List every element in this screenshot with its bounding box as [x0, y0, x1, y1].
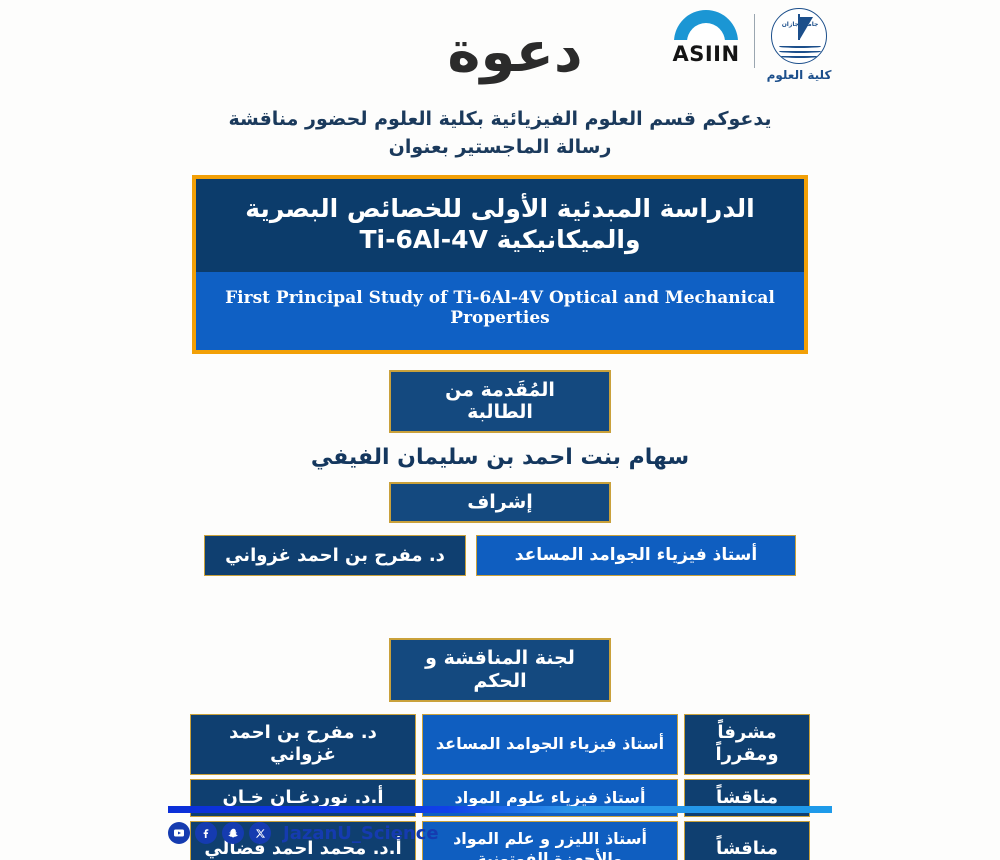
asiin-arch-icon — [674, 8, 738, 40]
jazan-university-logo: جامعة جازان كلية العلوم — [763, 8, 835, 82]
invitation-line-1: يدعوكم قسم العلوم الفيزيائية بكلية العلو… — [0, 106, 1000, 134]
dawah-calligraphy-title: دعوة — [455, 14, 575, 92]
invitation-text: يدعوكم قسم العلوم الفيزيائية بكلية العلو… — [0, 106, 1000, 161]
student-name: سهام بنت احمد بن سليمان الفيفي — [0, 445, 1000, 470]
thesis-title-arabic: الدراسة المبدئية الأولى للخصائص البصرية … — [196, 179, 804, 272]
logo-group: ASIIN جامعة جازان كلية العلوم — [666, 8, 835, 82]
supervision-label: إشراف — [389, 482, 611, 523]
asiin-logo: ASIIN — [666, 8, 746, 66]
table-row: مشرفاً ومقرراً أستاذ فيزياء الجوامد المس… — [190, 714, 810, 775]
supervisor-name: د. مفرح بن احمد غزواني — [204, 535, 466, 576]
poster-footer: JazanU_Science — [168, 806, 832, 844]
poster-header: دعوة ASIIN جامعة جازان كلية العلوم — [0, 0, 1000, 100]
student-label: المُقَدمة من الطالبة — [389, 370, 611, 434]
committee-label: لجنة المناقشة و الحكم — [389, 638, 611, 702]
youtube-icon[interactable] — [168, 822, 190, 844]
seal-wave — [779, 45, 821, 48]
x-twitter-icon[interactable] — [249, 822, 271, 844]
college-of-science-caption: كلية العلوم — [767, 68, 832, 82]
seal-wave — [779, 50, 821, 53]
university-seal-icon: جامعة جازان — [771, 8, 827, 64]
committee-specialty: أستاذ فيزياء الجوامد المساعد — [422, 714, 678, 775]
invitation-poster: دعوة ASIIN جامعة جازان كلية العلوم — [0, 0, 1000, 860]
social-media-row: JazanU_Science — [168, 822, 832, 844]
committee-role: مشرفاً ومقرراً — [684, 714, 810, 775]
social-handle[interactable]: JazanU_Science — [283, 823, 439, 844]
logo-divider — [754, 14, 755, 68]
gradient-divider — [168, 806, 832, 813]
invitation-line-2: رسالة الماجستير بعنوان — [0, 134, 1000, 162]
snapchat-icon[interactable] — [222, 822, 244, 844]
thesis-title-box: الدراسة المبدئية الأولى للخصائص البصرية … — [192, 175, 808, 354]
seal-wave — [779, 55, 821, 58]
facebook-icon[interactable] — [195, 822, 217, 844]
asiin-swoosh-icon — [679, 25, 732, 40]
supervisor-title: أستاذ فيزياء الجوامد المساعد — [476, 535, 796, 576]
committee-name: د. مفرح بن احمد غزواني — [190, 714, 416, 775]
seal-sail — [800, 17, 813, 39]
supervisor-row: د. مفرح بن احمد غزواني أستاذ فيزياء الجو… — [0, 535, 1000, 576]
thesis-title-english: First Principal Study of Ti-6Al-4V Optic… — [196, 272, 804, 350]
asiin-wordmark: ASIIN — [672, 42, 739, 66]
